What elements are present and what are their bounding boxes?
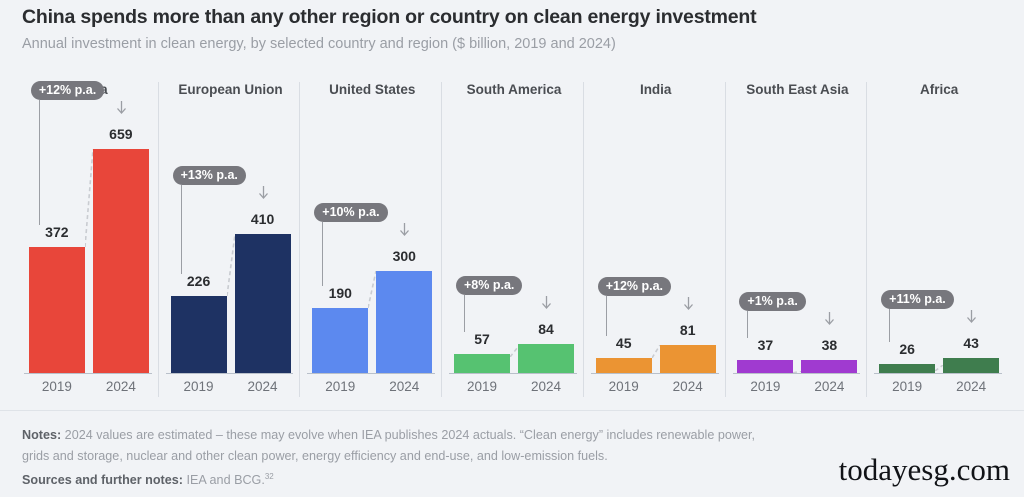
year-label-2024: 2024	[648, 379, 728, 394]
cagr-callout-pill: +8% p.a.	[456, 276, 522, 295]
cagr-callout-pill: +12% p.a.	[598, 277, 671, 296]
callout-arrow-icon	[258, 186, 269, 199]
notes-text: 2024 values are estimated – these may ev…	[22, 428, 755, 463]
bar-south-america-2019[interactable]	[454, 78, 510, 373]
sources-text: IEA and BCG.	[183, 473, 265, 487]
callout-arrow-icon	[116, 101, 127, 114]
bar-china-2024[interactable]	[93, 78, 149, 373]
callout-leader-line	[322, 222, 323, 286]
growth-connector-dashed-line	[368, 271, 376, 308]
value-label: 81	[646, 322, 730, 338]
sources-block: Sources and further notes: IEA and BCG.3…	[22, 472, 274, 487]
callout-leader-line	[889, 309, 890, 342]
axis-baseline	[874, 373, 1002, 374]
cagr-callout-pill: +11% p.a.	[881, 290, 954, 309]
notes-label: Notes:	[22, 428, 61, 442]
chart-page: China spends more than any other region …	[0, 0, 1024, 496]
growth-connector-dashed-line	[793, 360, 801, 362]
year-label-2024: 2024	[364, 379, 444, 394]
growth-connector-dashed-line	[935, 358, 943, 364]
axis-baseline	[733, 373, 861, 374]
axis-baseline	[449, 373, 577, 374]
bar-rect	[29, 247, 85, 373]
value-label: 410	[221, 211, 305, 227]
group-separator	[299, 82, 300, 397]
sources-superscript: 32	[265, 472, 274, 481]
callout-leader-line	[39, 100, 40, 225]
callout-leader-line	[606, 296, 607, 336]
notes-block: Notes: 2024 values are estimated – these…	[22, 425, 782, 467]
year-label-2024: 2024	[789, 379, 869, 394]
bar-rect	[801, 360, 857, 373]
growth-connector-dashed-line	[510, 344, 518, 354]
bar-rect	[518, 344, 574, 373]
growth-connector-dashed-line	[227, 234, 235, 296]
bar-rect	[93, 149, 149, 373]
cagr-callout-pill: +1% p.a.	[739, 292, 805, 311]
value-label: 659	[79, 126, 163, 142]
bar-united-states-2019[interactable]	[312, 78, 368, 373]
sources-label: Sources and further notes:	[22, 473, 183, 487]
bar-africa-2019[interactable]	[879, 78, 935, 373]
group-separator	[441, 82, 442, 397]
value-label: 84	[504, 321, 588, 337]
bar-rect	[660, 345, 716, 373]
bar-india-2019[interactable]	[596, 78, 652, 373]
axis-baseline	[24, 373, 152, 374]
callout-arrow-icon	[966, 310, 977, 323]
value-label: 300	[362, 248, 446, 264]
callout-leader-line	[181, 185, 182, 274]
page-subtitle: Annual investment in clean energy, by se…	[22, 36, 616, 52]
bar-rect	[376, 271, 432, 373]
cagr-callout-pill: +12% p.a.	[31, 81, 104, 100]
axis-baseline	[591, 373, 719, 374]
axis-baseline	[166, 373, 294, 374]
bar-rect	[454, 354, 510, 373]
page-title: China spends more than any other region …	[22, 6, 756, 29]
growth-connector-dashed-line	[652, 345, 660, 358]
year-label-2024: 2024	[931, 379, 1011, 394]
value-label: 43	[929, 335, 1013, 351]
bar-south-east-asia-2024[interactable]	[801, 78, 857, 373]
cagr-callout-pill: +13% p.a.	[173, 166, 246, 185]
group-separator	[158, 82, 159, 397]
callout-arrow-icon	[824, 312, 835, 325]
bar-south-east-asia-2019[interactable]	[737, 78, 793, 373]
callout-leader-line	[464, 295, 465, 332]
growth-connector-dashed-line	[85, 149, 93, 247]
bar-rect	[879, 364, 935, 373]
bar-rect	[596, 358, 652, 373]
year-label-2024: 2024	[81, 379, 161, 394]
bar-rect	[171, 296, 227, 373]
year-label-2024: 2024	[223, 379, 303, 394]
bar-chart-plot: China37220196592024+12% p.a.European Uni…	[0, 78, 1024, 398]
bar-rect	[235, 234, 291, 373]
callout-arrow-icon	[541, 296, 552, 309]
bar-africa-2024[interactable]	[943, 78, 999, 373]
callout-arrow-icon	[683, 297, 694, 310]
watermark: todayesg.com	[839, 452, 1010, 488]
callout-leader-line	[747, 311, 748, 338]
bar-rect	[943, 358, 999, 373]
axis-baseline	[307, 373, 435, 374]
value-label: 38	[787, 337, 871, 353]
bar-rect	[312, 308, 368, 373]
callout-arrow-icon	[399, 223, 410, 236]
bar-rect	[737, 360, 793, 373]
bar-european-union-2019[interactable]	[171, 78, 227, 373]
year-label-2024: 2024	[506, 379, 586, 394]
cagr-callout-pill: +10% p.a.	[314, 203, 387, 222]
